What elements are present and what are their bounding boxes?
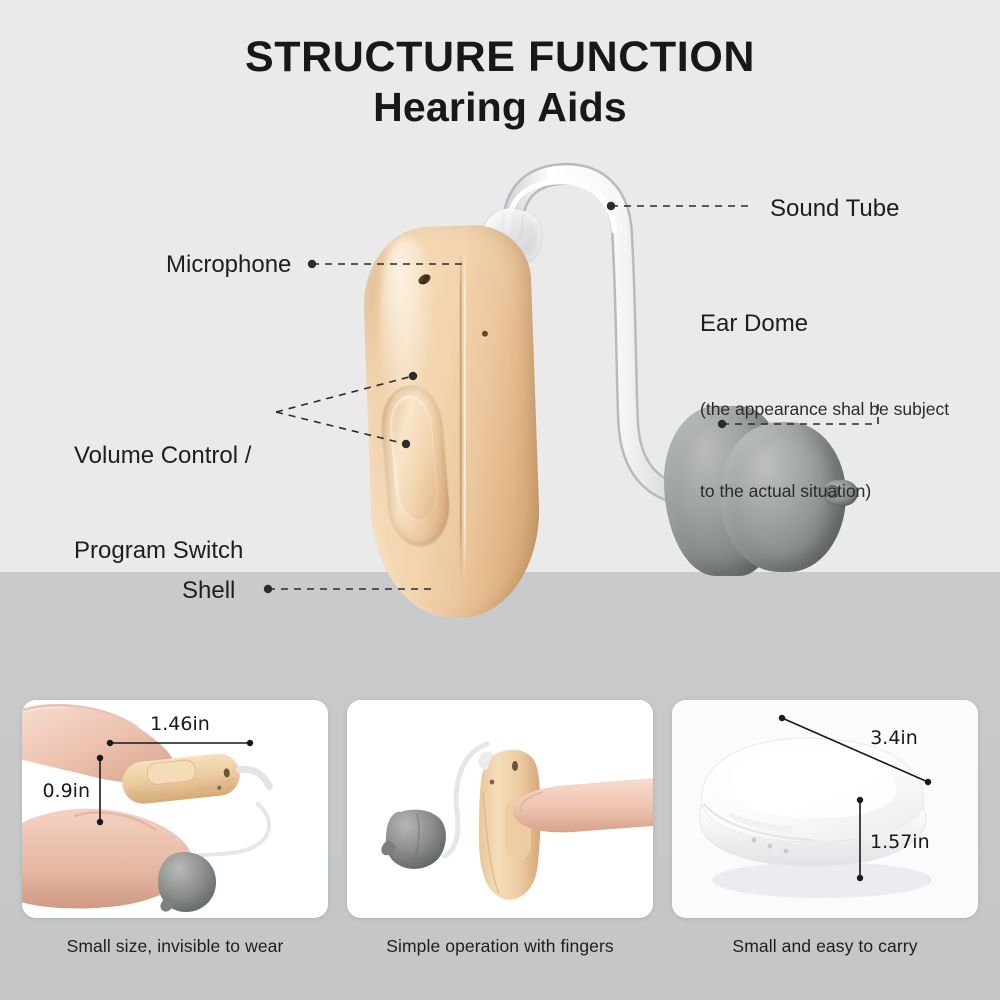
dimension-value-width: 1.46in xyxy=(150,713,210,735)
title-line-1: STRUCTURE FUNCTION xyxy=(0,34,1000,80)
callout-note-ear-dome: (the appearance shal be subject to the a… xyxy=(700,342,949,559)
led-indicator-3 xyxy=(784,849,789,854)
rocker-inner-surface xyxy=(387,394,440,523)
dimension-value-case-length: 3.4in xyxy=(870,727,918,749)
indicator-dot xyxy=(482,331,488,337)
page-title: STRUCTURE FUNCTION Hearing Aids xyxy=(0,34,1000,132)
volume-control-button[interactable] xyxy=(379,383,453,548)
card-charging-case: 3.4in 1.57in xyxy=(672,700,978,918)
dimension-value-height: 0.9in xyxy=(42,780,90,802)
card-caption-charging-case: Small and easy to carry xyxy=(672,936,978,957)
shell-seam-highlight xyxy=(464,250,466,580)
card-caption-size-in-hand: Small size, invisible to wear xyxy=(22,936,328,957)
callout-label-microphone: Microphone xyxy=(166,249,291,281)
card-finger-operation xyxy=(347,700,653,918)
infographic-stage: STRUCTURE FUNCTION Hearing Aids xyxy=(0,0,1000,1000)
dimension-value-case-height: 1.57in xyxy=(870,831,930,853)
callout-label-volume-line-1: Volume Control / xyxy=(74,440,251,472)
callout-label-shell: Shell xyxy=(182,575,235,607)
callout-label-ear-dome: Ear Dome xyxy=(700,308,808,340)
led-indicator-1 xyxy=(752,838,757,843)
card-caption-finger-operation: Simple operation with fingers xyxy=(347,936,653,957)
shell-seam xyxy=(460,250,462,580)
callout-label-sound-tube: Sound Tube xyxy=(770,193,899,225)
callout-label-volume-line-2: Program Switch xyxy=(74,535,251,567)
card-size-in-hand: 1.46in 0.9in xyxy=(22,700,328,918)
ear-dome-note-line-1: (the appearance shal be subject xyxy=(700,396,949,423)
hearing-aid-shell xyxy=(361,223,543,621)
ear-dome-note-line-2: to the actual situation) xyxy=(700,478,949,505)
led-indicator-2 xyxy=(768,844,773,849)
title-line-2: Hearing Aids xyxy=(0,82,1000,132)
